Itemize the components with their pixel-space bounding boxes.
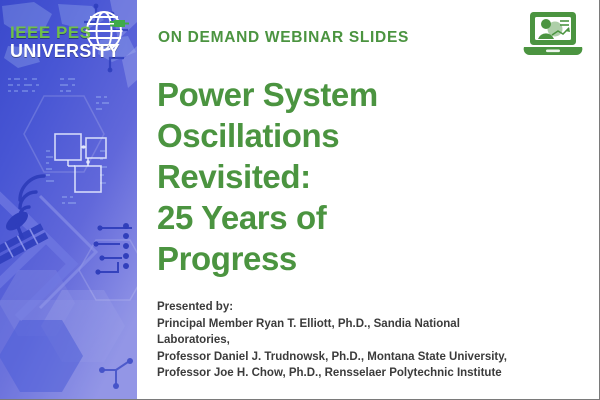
title-line-5: Progress xyxy=(157,238,587,279)
webinar-slide: IEEE PES UNIVERSITY ON DEMAND WEBINAR SL… xyxy=(0,0,600,400)
logo-line-ieee-pes: IEEE PES xyxy=(10,24,120,41)
ieee-pes-university-logo: IEEE PES UNIVERSITY xyxy=(4,4,136,60)
title-line-4: 25 Years of xyxy=(157,197,587,238)
presenter-line-4: Professor Joe H. Chow, Ph.D., Rensselaer… xyxy=(157,365,597,382)
title-line-3: Revisited: xyxy=(157,156,587,197)
presenter-line-3: Professor Daniel J. Trudnowsk, Ph.D., Mo… xyxy=(157,349,597,366)
logo-line-university: UNIVERSITY xyxy=(10,42,120,60)
sidebar-tech-graphic: IEEE PES UNIVERSITY xyxy=(0,0,137,400)
eyebrow-label: ON DEMAND WEBINAR SLIDES xyxy=(158,29,409,47)
presenter-line-2: Laboratories, xyxy=(157,332,597,349)
title-line-1: Power System xyxy=(157,74,587,115)
content-area: ON DEMAND WEBINAR SLIDES xyxy=(137,0,600,400)
page-title: Power System Oscillations Revisited: 25 … xyxy=(157,74,587,279)
presenters-block: Presented by: Principal Member Ryan T. E… xyxy=(157,299,597,382)
presenter-line-1: Principal Member Ryan T. Elliott, Ph.D.,… xyxy=(157,316,597,333)
presented-by-label: Presented by: xyxy=(157,299,597,316)
title-line-2: Oscillations xyxy=(157,115,587,156)
laptop-webinar-icon xyxy=(522,10,584,67)
